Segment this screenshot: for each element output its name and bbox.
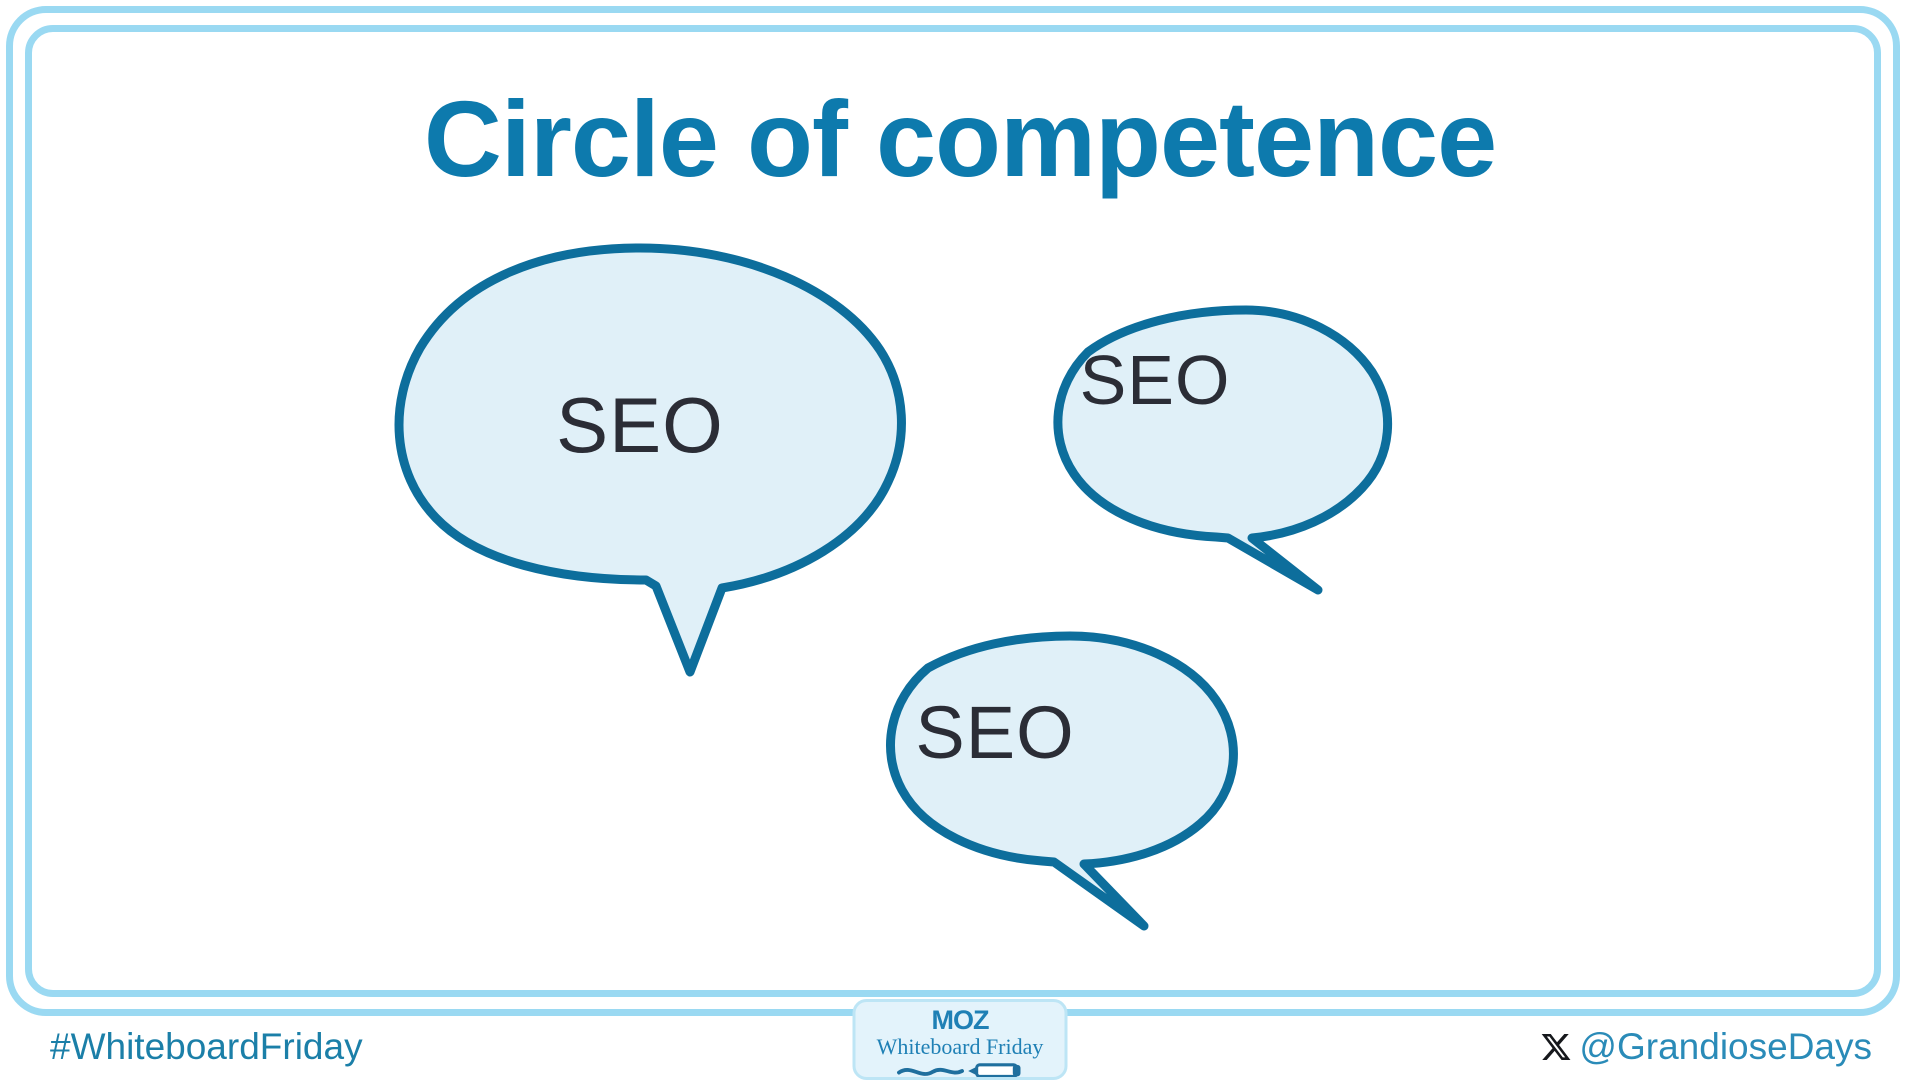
speech-bubble-2-label: SEO [1030,340,1280,420]
speech-bubble-1-label: SEO [500,380,780,471]
x-twitter-icon [1540,1031,1572,1063]
badge-tick-right-bottom [1065,1048,1068,1052]
moz-brand-label: MOZ [856,1007,1065,1034]
hashtag-label: #WhiteboardFriday [50,1026,363,1068]
badge-tick-right-top [1065,1028,1068,1032]
social-handle-group[interactable]: @GrandioseDays [1540,1026,1872,1068]
social-handle-label: @GrandioseDays [1579,1026,1872,1068]
wavy-line-icon [898,1070,961,1074]
speech-bubble-3-label: SEO [855,690,1135,775]
badge-tick-left-top [853,1028,856,1032]
badge-tick-left-bottom [853,1048,856,1052]
whiteboard-slide: Circle of competence SEO SEO SEO #Whiteb… [0,0,1920,1080]
whiteboard-friday-label: Whiteboard Friday [856,1036,1065,1058]
speech-bubble-3-shape[interactable] [890,636,1233,926]
marker-pen-icon [968,1065,1020,1077]
marker-row [856,1061,1065,1080]
speech-bubbles-group [0,0,1920,1080]
moz-whiteboard-friday-badge[interactable]: MOZ Whiteboard Friday [853,999,1068,1080]
